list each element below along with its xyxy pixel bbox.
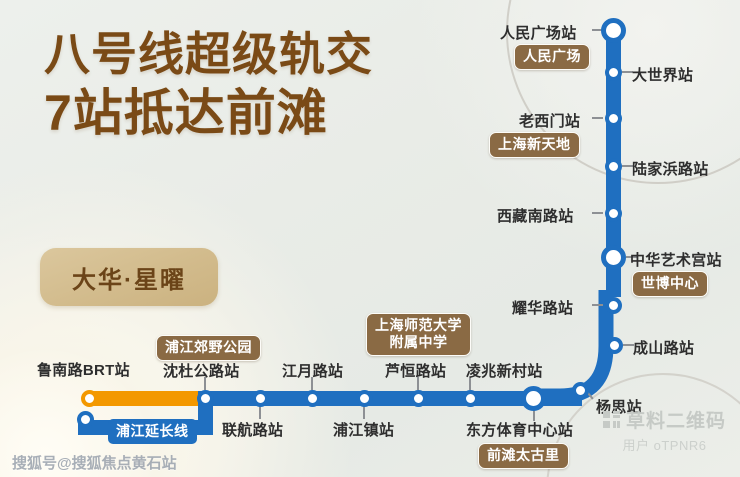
station-dot-china-art-museum[interactable] <box>601 245 626 270</box>
sohu-watermark: 搜狐号@搜狐焦点黄石站 <box>12 452 177 473</box>
station-label-yaohua-road: 耀华路站 <box>512 297 573 318</box>
station-label-luheng-road: 芦恒路站 <box>385 360 446 381</box>
station-dot-oriental-sports-center[interactable] <box>521 386 546 411</box>
station-label-south-xizang-road: 西藏南路站 <box>497 205 574 226</box>
poi-badge-renmin-square: 人民广场 <box>514 44 590 70</box>
station-label-jiangyue-road: 江月路站 <box>282 360 343 381</box>
headline-line-2: 7站抵达前滩 <box>44 84 373 142</box>
page-title: 八号线超级轨交 7站抵达前滩 <box>44 28 373 142</box>
poi-badge-shnu-affiliated-school: 上海师范大学 附属中学 <box>366 313 471 356</box>
station-dot-renmin-square[interactable] <box>601 18 626 43</box>
branch-line-tag: 浦江延长线 <box>108 419 197 444</box>
poi-badge-pujiang-park: 浦江郊野公园 <box>156 335 261 361</box>
station-dot-pujiangzhen[interactable] <box>356 390 373 407</box>
station-label-chengshan-road: 成山路站 <box>633 337 694 358</box>
station-label-dashijie: 大世界站 <box>632 64 693 85</box>
station-tick-laoximen <box>592 117 603 119</box>
brand-badge: 大华·星曜 <box>40 248 218 306</box>
station-label-laoximen: 老西门站 <box>519 110 580 131</box>
metro-line-poster: 八号线超级轨交 7站抵达前滩 大华·星曜 人民广场站 人民广场 大世界站 老西门… <box>0 0 740 477</box>
qr-watermark: 草料二维码 用户 oTPNR6 <box>603 406 726 454</box>
poi-badge-shnu-line-2: 附属中学 <box>375 334 462 351</box>
brand-name: 大华·星曜 <box>72 260 186 295</box>
station-label-pujiangzhen: 浦江镇站 <box>333 419 394 440</box>
station-dot-yaohua-road[interactable] <box>605 297 622 314</box>
station-tick-lianhang-road <box>259 406 261 419</box>
station-label-lunan-road-brt: 鲁南路BRT站 <box>37 359 130 380</box>
station-label-china-art-museum: 中华艺术宫站 <box>630 249 722 270</box>
qr-watermark-user: 用户 oTPNR6 <box>603 435 726 454</box>
poi-badge-shnu-line-1: 上海师范大学 <box>375 317 462 334</box>
qr-code-icon <box>603 411 620 428</box>
headline-line-1: 八号线超级轨交 <box>44 28 373 80</box>
station-dot-laoximen[interactable] <box>605 110 622 127</box>
station-dot-branch-terminus[interactable] <box>77 411 94 428</box>
poi-badge-expo-center: 世博中心 <box>632 271 708 297</box>
station-label-lianhang-road: 联航路站 <box>222 419 283 440</box>
qr-watermark-brand-row: 草料二维码 <box>603 406 726 433</box>
station-label-shendu-highway: 沈杜公路站 <box>163 360 240 381</box>
station-dot-chengshan-road[interactable] <box>606 337 623 354</box>
station-tick-south-xizang-road <box>592 212 603 214</box>
station-dot-dashijie[interactable] <box>605 64 622 81</box>
station-dot-lunan-road-brt[interactable] <box>81 390 98 407</box>
orange-line-segment <box>84 391 206 406</box>
station-label-lingzhao-xincun: 凌兆新村站 <box>466 360 543 381</box>
station-label-lujiabang-road: 陆家浜路站 <box>632 158 709 179</box>
station-dot-luheng-road[interactable] <box>410 390 427 407</box>
station-dot-shendu-highway[interactable] <box>197 390 214 407</box>
station-dot-lingzhao-xincun[interactable] <box>462 390 479 407</box>
station-tick-yaohua-road <box>592 304 603 306</box>
station-tick-pujiangzhen <box>363 406 365 419</box>
background-halo-outer <box>0 300 210 477</box>
station-dot-south-xizang-road[interactable] <box>605 205 622 222</box>
station-label-oriental-sports-center: 东方体育中心站 <box>466 419 573 440</box>
station-dot-lujiabang-road[interactable] <box>605 158 622 175</box>
poi-badge-xintiandi: 上海新天地 <box>489 132 580 158</box>
station-dot-yangsi[interactable] <box>572 382 589 399</box>
qr-watermark-brand-text: 草料二维码 <box>626 406 726 433</box>
station-dot-lianhang-road[interactable] <box>252 390 269 407</box>
poi-badge-qiantan-taikooli: 前滩太古里 <box>478 443 569 469</box>
station-dot-jiangyue-road[interactable] <box>304 390 321 407</box>
station-label-renmin-square: 人民广场站 <box>500 22 577 43</box>
